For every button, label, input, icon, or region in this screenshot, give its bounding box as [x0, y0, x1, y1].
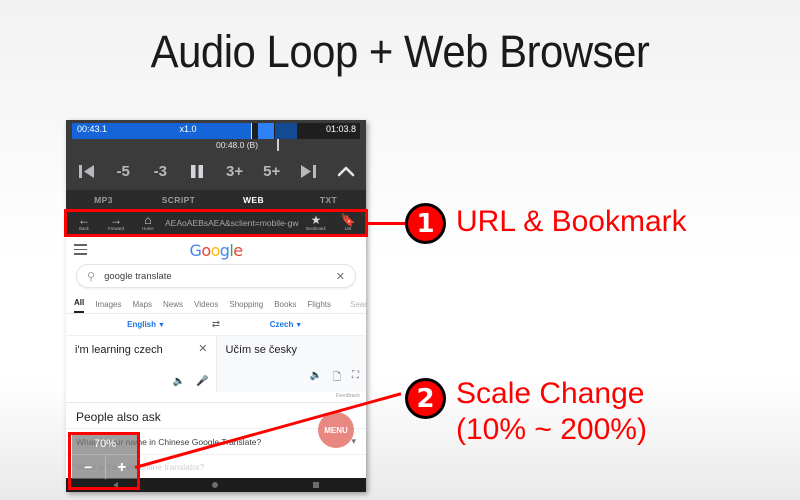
skip-next-icon[interactable]	[298, 153, 320, 190]
gtab-videos[interactable]: Videos	[194, 300, 218, 313]
annotation-label-1: URL & Bookmark	[456, 204, 687, 240]
gtab-shopping[interactable]: Shopping	[229, 300, 263, 313]
microphone-icon[interactable]: 🎤	[196, 376, 208, 387]
tab-txt[interactable]: TXT	[291, 195, 366, 205]
translate-panels: i'm learning czech ✕ 🔈 🎤 Učím se česky 🔈…	[66, 336, 366, 392]
forward-5-button[interactable]: 5+	[261, 153, 283, 190]
clear-search-icon[interactable]: ✕	[336, 270, 345, 283]
loop-marker-row: 00:48.0 (B)	[66, 140, 366, 153]
chevron-down-icon: ▼	[156, 322, 165, 329]
menu-fab-button[interactable]: MENU	[318, 412, 354, 448]
skip-previous-icon[interactable]	[75, 153, 97, 190]
translate-language-row: English ▼ ⇄ Czech ▼	[66, 314, 366, 336]
search-icon: ⚲	[87, 270, 95, 283]
swap-languages-icon[interactable]: ⇄	[196, 319, 236, 330]
home-nav-icon[interactable]	[212, 482, 218, 488]
highlight-box-scale-change	[68, 432, 140, 490]
target-language-selector[interactable]: Czech ▼	[236, 320, 336, 329]
logo-letter-o2: o	[211, 241, 220, 260]
gtab-all[interactable]: All	[74, 298, 84, 313]
gtab-flights[interactable]: Flights	[307, 300, 331, 313]
feedback-link[interactable]: Feedback	[66, 392, 366, 403]
speaker-icon[interactable]: 🔈	[173, 376, 185, 387]
tab-web[interactable]: WEB	[216, 195, 291, 205]
pause-icon[interactable]	[186, 153, 208, 190]
gtab-search-tools[interactable]: Searc	[350, 300, 366, 313]
leader-line-1	[368, 222, 408, 225]
source-language-label: English	[127, 320, 156, 329]
tab-mp3[interactable]: MP3	[66, 195, 141, 205]
fullscreen-icon[interactable]: ⛶	[352, 370, 359, 387]
google-logo: Google	[66, 241, 366, 260]
google-result-tabs: All Images Maps News Videos Shopping Boo…	[66, 294, 366, 314]
google-header: Google	[66, 236, 366, 262]
translate-target-text: Učím se česky	[226, 343, 358, 357]
translate-source-panel[interactable]: i'm learning czech ✕ 🔈 🎤	[66, 336, 216, 392]
source-language-selector[interactable]: English ▼	[96, 320, 196, 329]
google-search-box[interactable]: ⚲ google translate ✕	[76, 264, 356, 288]
playback-speed: x1.0	[72, 124, 360, 134]
logo-letter-g2: g	[220, 241, 230, 260]
target-actions: 🔈 🗋 ⛶	[310, 370, 360, 387]
rewind-5-button[interactable]: -5	[112, 153, 134, 190]
annotation-label-2: Scale Change (10% ~ 200%)	[456, 376, 647, 448]
translate-target-panel[interactable]: Učím se česky 🔈 🗋 ⛶	[216, 336, 367, 392]
logo-letter-e: e	[233, 241, 242, 260]
target-language-label: Czech	[270, 320, 294, 329]
seekbar[interactable]: 00:43.1 x1.0 01:03.8	[72, 123, 360, 139]
highlight-box-url-bookmark	[64, 209, 368, 237]
copy-icon[interactable]: 🗋	[333, 370, 341, 387]
loop-marker-b-label: 00:48.0 (B)	[216, 140, 258, 150]
tab-script[interactable]: SCRIPT	[141, 195, 216, 205]
audio-player: 00:43.1 x1.0 01:03.8 00:48.0 (B) -5 -3 3…	[66, 120, 366, 210]
gtab-images[interactable]: Images	[95, 300, 121, 313]
annotation-badge-1: 1	[405, 203, 446, 244]
page-title: Audio Loop + Web Browser	[28, 26, 772, 78]
mode-tabs: MP3 SCRIPT WEB TXT	[66, 190, 366, 210]
seekbar-container[interactable]: 00:43.1 x1.0 01:03.8	[66, 120, 366, 140]
clear-source-icon[interactable]: ✕	[198, 342, 207, 355]
annotation-badge-2: 2	[405, 378, 446, 419]
chevron-down-icon: ▼	[293, 322, 302, 329]
gtab-maps[interactable]: Maps	[132, 300, 152, 313]
collapse-chevron-up-icon[interactable]	[335, 153, 357, 190]
logo-letter-g1: G	[190, 241, 202, 260]
loop-marker-b-tick	[277, 139, 279, 151]
transport-controls: -5 -3 3+ 5+	[66, 153, 366, 190]
total-time: 01:03.8	[326, 124, 356, 134]
recents-nav-icon[interactable]	[313, 482, 319, 488]
search-input-value[interactable]: google translate	[104, 271, 336, 282]
gtab-news[interactable]: News	[163, 300, 183, 313]
translate-source-text: i'm learning czech	[75, 343, 207, 357]
logo-letter-o1: o	[201, 241, 210, 260]
forward-3-button[interactable]: 3+	[224, 153, 246, 190]
speaker-icon[interactable]: 🔈	[310, 370, 322, 387]
source-actions: 🔈 🎤	[173, 376, 209, 387]
gtab-books[interactable]: Books	[274, 300, 296, 313]
rewind-3-button[interactable]: -3	[149, 153, 171, 190]
